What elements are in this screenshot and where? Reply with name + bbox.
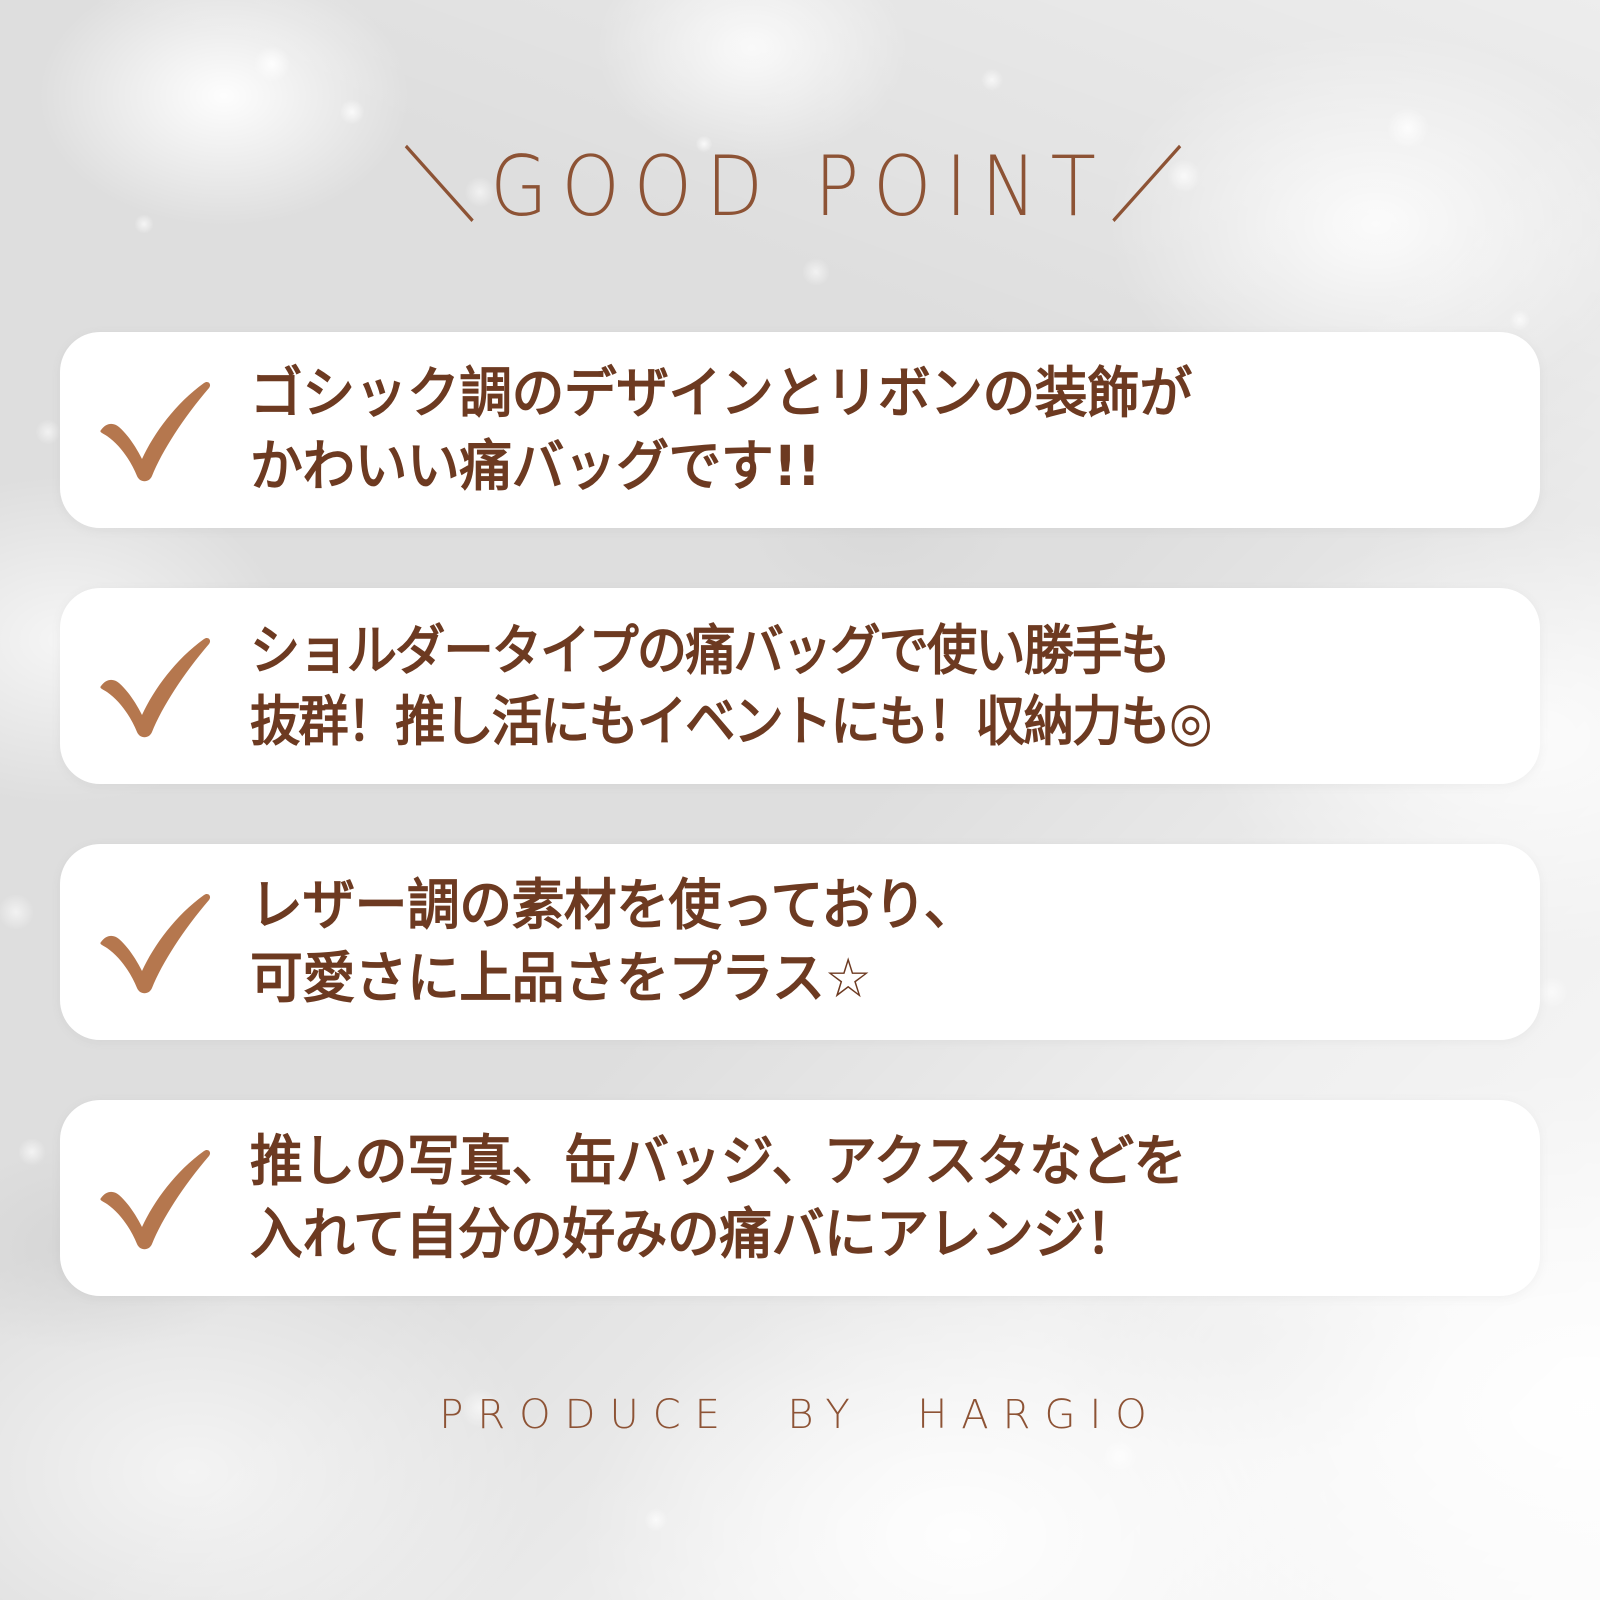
check-mark-icon [60,631,250,741]
good-point-item-3: レザー調の素材を使っており、 可愛さに上品さをプラス☆ [60,844,1540,1040]
page-title: ＼GOOD POINT／ [0,146,1600,229]
good-point-infographic: ＼GOOD POINT／ ゴシック調のデザインとリボンの装飾が かわいい痛バッグ… [0,0,1600,1600]
check-mark-icon [60,887,250,997]
good-point-item-2: ショルダータイプの痛バッグで使い勝手も 抜群！推し活にもイベントにも！収納力も◎ [60,588,1540,784]
check-mark-icon [60,375,250,485]
good-point-item-1: ゴシック調のデザインとリボンの装飾が かわいい痛バッグです!! [60,332,1540,528]
good-point-text: 推しの写真、缶バッジ、アクスタなどを 入れて自分の好みの痛バにアレンジ！ [250,1125,1488,1270]
good-point-list: ゴシック調のデザインとリボンの装飾が かわいい痛バッグです!! ショルダータイプ… [60,332,1540,1356]
good-point-text: ショルダータイプの痛バッグで使い勝手も 抜群！推し活にもイベントにも！収納力も◎ [250,615,1450,758]
good-point-item-4: 推しの写真、缶バッジ、アクスタなどを 入れて自分の好みの痛バにアレンジ！ [60,1100,1540,1296]
producer-credit: PRODUCE BY HARGIO [0,1392,1600,1438]
good-point-text: レザー調の素材を使っており、 可愛さに上品さをプラス☆ [250,869,1488,1014]
check-mark-icon [60,1143,250,1253]
good-point-text: ゴシック調のデザインとリボンの装飾が かわいい痛バッグです!! [250,357,1488,502]
